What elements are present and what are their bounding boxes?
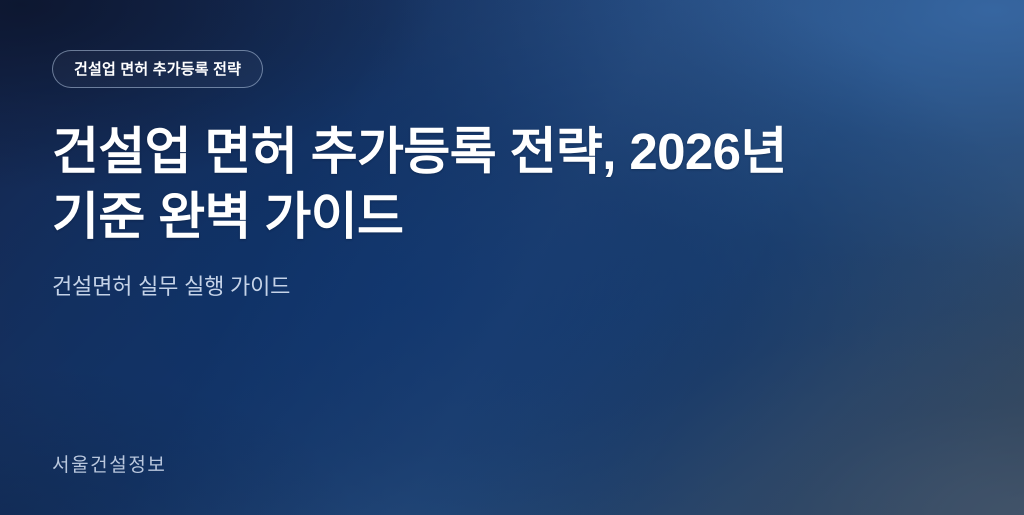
page-title-line-1: 건설업 면허 추가등록 전략, 2026년 (52, 119, 972, 184)
source-name: 서울건설정보 (52, 455, 166, 476)
page-title: 건설업 면허 추가등록 전략, 2026년 기준 완벽 가이드 (52, 119, 972, 249)
hero-banner-card: 건설업 면허 추가등록 전략 건설업 면허 추가등록 전략, 2026년 기준 … (0, 0, 1024, 515)
hero-content: 건설업 면허 추가등록 전략 건설업 면허 추가등록 전략, 2026년 기준 … (0, 0, 1024, 515)
page-subtitle: 건설면허 실무 실행 가이드 (52, 272, 972, 302)
category-badge: 건설업 면허 추가등록 전략 (52, 50, 263, 88)
page-title-line-2: 기준 완벽 가이드 (52, 184, 972, 249)
category-badge-label: 건설업 면허 추가등록 전략 (74, 62, 241, 77)
hero-footer: 서울건설정보 (52, 453, 972, 485)
